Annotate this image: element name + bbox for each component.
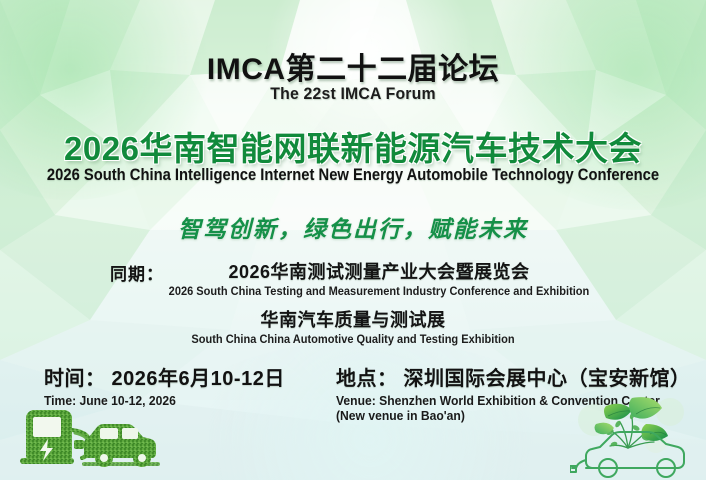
concurrent-event-1-cn: 2026华南测试测量产业大会暨展览会: [52, 258, 706, 284]
main-title-en: 2026 South China Intelligence Internet N…: [37, 166, 669, 185]
conference-poster: IMCA第二十二届论坛 The 22st IMCA Forum 2026华南智能…: [0, 0, 706, 480]
venue-cn: 地点： 深圳国际会展中心（宝安新馆）: [336, 362, 691, 391]
concurrent-event-2-en: South China China Automotive Quality and…: [14, 334, 692, 346]
time-cn: 时间： 2026年6月10-12日: [44, 362, 285, 391]
concurrent-event-2: 华南汽车质量与测试展 South China China Automotive …: [0, 306, 706, 346]
forum-title-en: The 22st IMCA Forum: [25, 84, 682, 104]
concurrent-event-1-en: 2026 South China Testing and Measurement…: [65, 286, 693, 298]
ev-charging-station-and-car-icon: [12, 400, 162, 472]
eco-car-with-leaves-icon: [570, 390, 698, 478]
main-title-cn: 2026华南智能网联新能源汽车技术大会: [0, 122, 706, 170]
forum-title-cn: IMCA第二十二届论坛: [0, 44, 706, 88]
concurrent-event-1: 2026华南测试测量产业大会暨展览会 2026 South China Test…: [0, 258, 706, 298]
concurrent-event-2-cn: 华南汽车质量与测试展: [0, 306, 706, 332]
slogan: 智驾创新，绿色出行，赋能未来: [0, 210, 706, 244]
